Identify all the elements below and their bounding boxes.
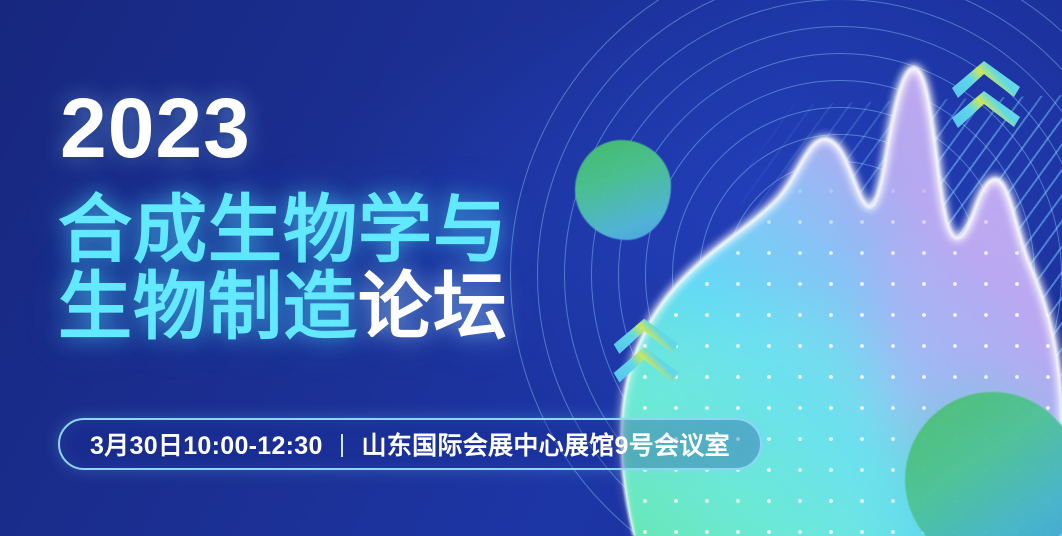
- info-separator: |: [339, 430, 346, 459]
- banner-text-block: 2023 合成生物学与 生物制造论坛 3月30日10:00-12:30 | 山东…: [0, 0, 640, 536]
- green-gradient-circle-bottom-icon: [905, 392, 1062, 536]
- event-title-line-2: 生物制造论坛: [58, 269, 508, 346]
- diagonal-hatch-lines-icon: [736, 94, 1062, 446]
- event-datetime: 3月30日10:00-12:30: [90, 426, 323, 462]
- green-circle-glow: [880, 372, 1062, 536]
- event-title-line-1: 合成生物学与: [58, 192, 508, 269]
- event-venue: 山东国际会展中心展馆9号会议室: [362, 426, 730, 462]
- event-title: 合成生物学与 生物制造论坛: [58, 192, 508, 346]
- event-info-pill: 3月30日10:00-12:30 | 山东国际会展中心展馆9号会议室: [58, 418, 762, 470]
- event-title-line-2-primary: 生物制造: [58, 265, 358, 348]
- event-banner: 2023 合成生物学与 生物制造论坛 3月30日10:00-12:30 | 山东…: [0, 0, 1062, 536]
- double-chevron-up-icon-top-right: [946, 55, 1028, 142]
- event-title-line-2-accent: 论坛: [358, 265, 508, 348]
- diagonal-hatch-lines-secondary-icon: [842, 376, 1062, 536]
- event-year: 2023: [60, 86, 251, 170]
